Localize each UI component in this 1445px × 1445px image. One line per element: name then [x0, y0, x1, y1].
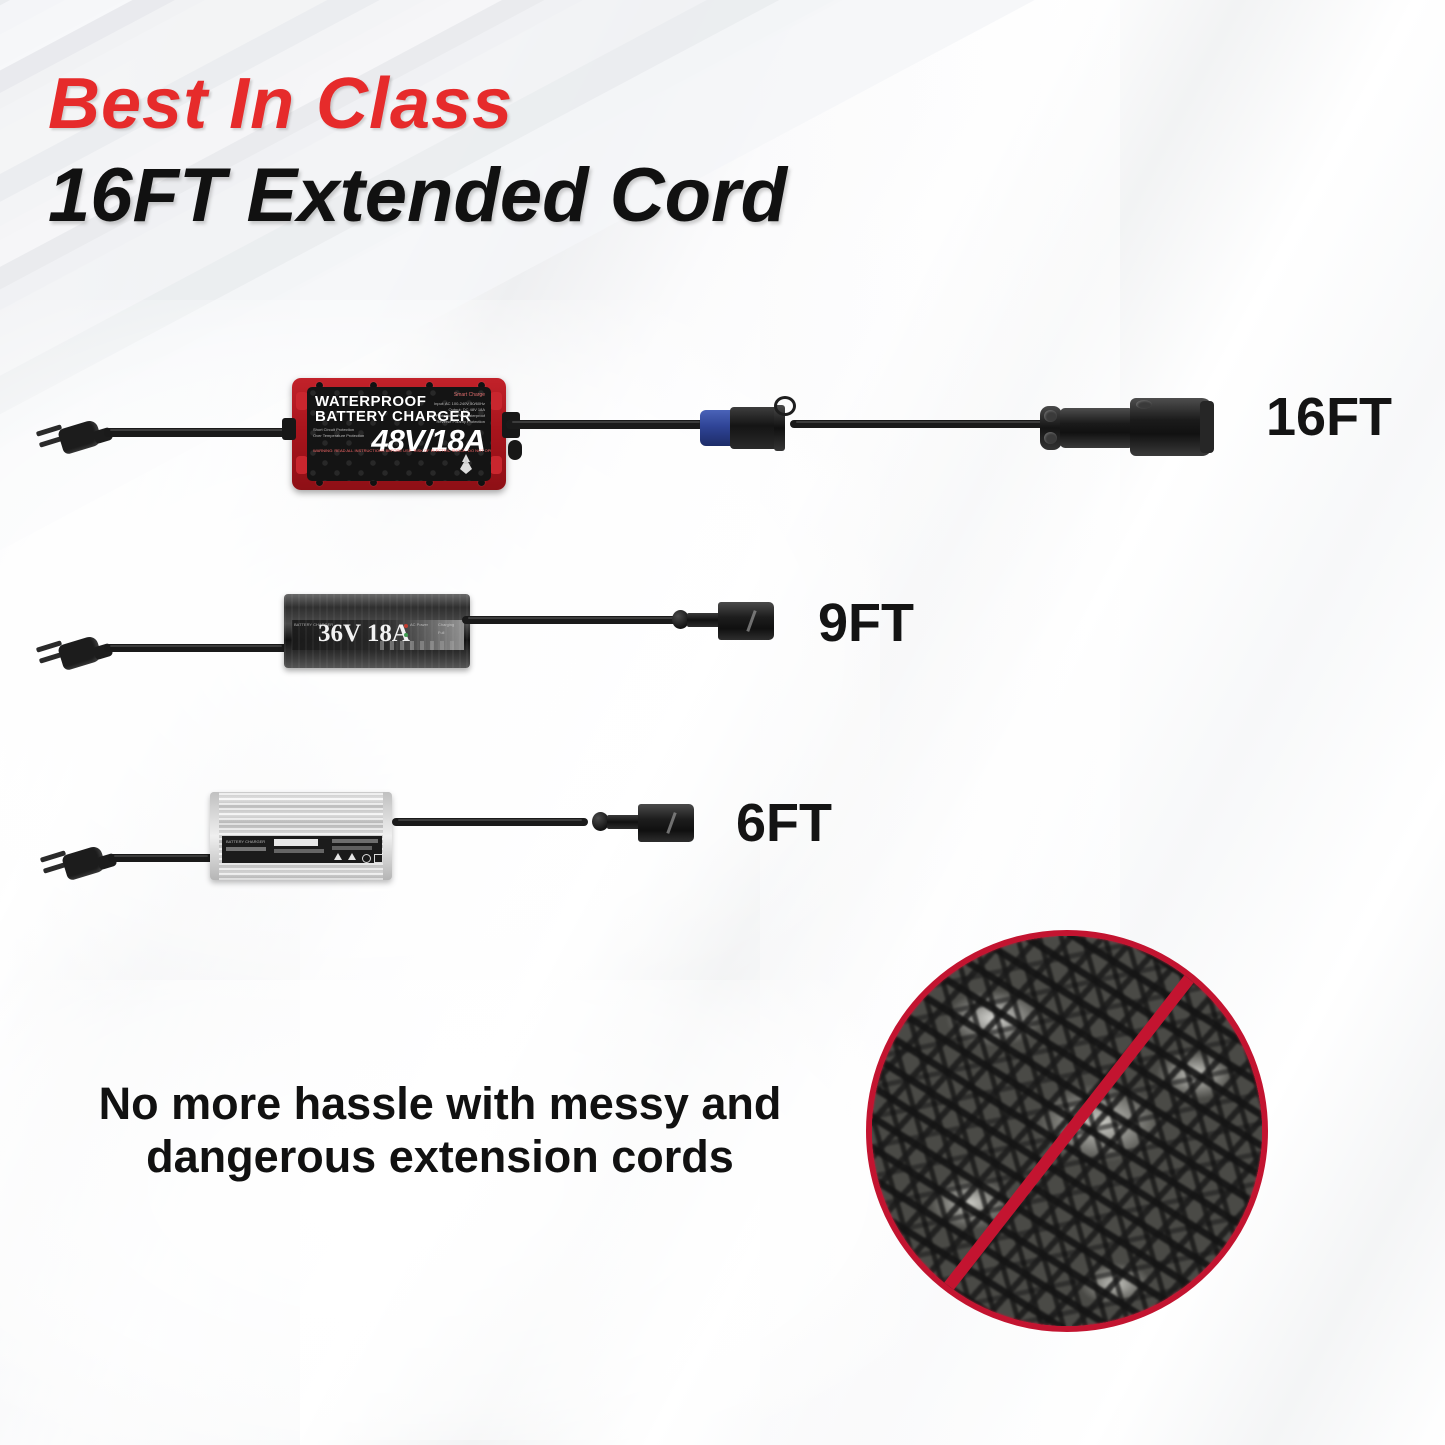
background-wash [0, 980, 900, 1440]
connector-latch-clip [774, 396, 796, 416]
charger-spec-line: Short Circuit Protection [313, 427, 354, 432]
charger-mount-tab [490, 456, 502, 474]
charger-endcap [210, 792, 219, 880]
charger-spec-line: Over Temperature Protection [313, 433, 364, 438]
label-spec-text [332, 839, 378, 843]
label-model-box [274, 839, 318, 846]
connector-blue-collar [700, 410, 734, 446]
charger-title: BATTERY CHARGER [226, 839, 265, 844]
cert-mark-icon [362, 854, 371, 863]
extension-cord-highlight [796, 421, 1052, 423]
connector-housing [638, 804, 694, 842]
charger-endcap [383, 792, 392, 880]
cert-mark-icon [374, 854, 383, 863]
charger-label-panel: BATTERY CHARGER [222, 836, 382, 863]
plug-collar-nub [1044, 410, 1057, 422]
charger-mount-tab [490, 392, 502, 410]
charger-spec-line: Protection: IP67 Waterproof [436, 413, 485, 418]
caption-block: No more hassle with messy and dangerous … [40, 1078, 840, 1183]
cable-gland [508, 440, 522, 460]
charger-spec-line: Output: DC 48V 18A [449, 407, 485, 412]
flame-logo-icon [453, 453, 479, 475]
label-spec-text [332, 846, 372, 850]
length-label-9ft: 9FT [818, 592, 914, 654]
product-row-9ft: 36V 18A BATTERY CHARGER AC Power Chargin… [0, 580, 1445, 780]
charger-waterproof-48v: WATERPROOF BATTERY CHARGER Smart Charge … [292, 378, 506, 490]
dc-cord-highlight [468, 617, 676, 619]
headline-line-1: Best In Class [48, 68, 1148, 140]
connector-housing [718, 602, 774, 640]
dc-cord-highlight [398, 819, 582, 821]
charger-vent-fins [284, 594, 470, 668]
length-label-16ft: 16FT [1266, 386, 1392, 448]
connector-neck [607, 815, 641, 829]
cable-gland [282, 418, 296, 440]
charger-spec-line: Input: AC 100-240V 50/60Hz [434, 401, 485, 406]
plug-face-opening [1200, 401, 1214, 453]
label-spec-text [226, 847, 266, 851]
ac-cord-highlight [110, 429, 294, 431]
plug-keyway-nub [1136, 400, 1152, 409]
charger-faceplate: WATERPROOF BATTERY CHARGER Smart Charge … [307, 387, 491, 481]
charger-silver: BATTERY CHARGER [210, 792, 392, 880]
warning-triangle-icon [334, 853, 342, 860]
tangled-cords-prohibited-badge [866, 930, 1268, 1332]
plug-barrel-narrow [1060, 408, 1134, 448]
headline-block: Best In Class 16FT Extended Cord [48, 68, 1148, 234]
charger-36v-18a: 36V 18A BATTERY CHARGER AC Power Chargin… [284, 594, 470, 668]
caption-line-1: No more hassle with messy and [40, 1078, 840, 1131]
caption-line-2: dangerous extension cords [40, 1131, 840, 1184]
product-row-16ft: WATERPROOF BATTERY CHARGER Smart Charge … [0, 370, 1445, 570]
product-infographic: Best In Class 16FT Extended Cord [0, 0, 1445, 1445]
plug-collar-nub [1044, 432, 1057, 444]
dc-cord-highlight [512, 421, 700, 423]
label-spec-text [274, 849, 324, 853]
length-label-6ft: 6FT [736, 792, 832, 854]
headline-line-2: 16FT Extended Cord [48, 158, 1148, 234]
warning-triangle-icon [348, 853, 356, 860]
connector-neck [687, 613, 721, 627]
ac-cord-highlight [114, 855, 208, 857]
connector-body [730, 407, 778, 449]
charger-brand-mark: Smart Charge [454, 393, 485, 398]
ac-cord-highlight [110, 645, 282, 647]
